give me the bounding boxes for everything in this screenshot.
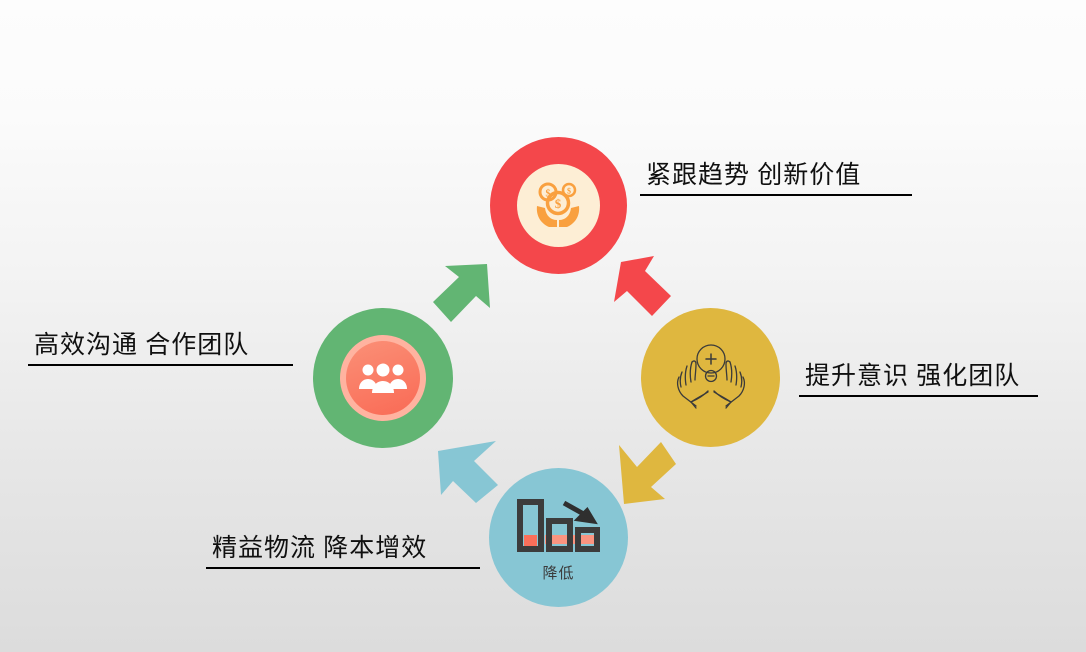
node-logistics-caption: 降低 [542,562,574,583]
node-communication[interactable] [313,308,453,448]
label-innovation-underline [640,194,912,196]
label-communication-text: 高效沟通 合作团队 [28,325,293,364]
label-awareness-text: 提升意识 强化团队 [799,356,1038,395]
arrow-red-down-right [607,252,679,329]
slide-canvas: $ $ $ [0,0,1086,652]
hands-holding-money-icon: $ $ $ [530,179,588,233]
svg-text:$: $ [567,186,571,195]
arrow-green-up-right [429,258,501,335]
label-logistics-underline [206,567,480,569]
node-logistics[interactable]: 降低 [489,468,628,607]
hands-holding-plus-minus-icon [668,342,754,414]
label-logistics: 精益物流 降本增效 [206,528,480,569]
svg-text:$: $ [554,196,561,211]
node-innovation-inner: $ $ $ [517,164,600,247]
label-awareness-underline [799,395,1038,397]
node-awareness[interactable] [641,308,780,447]
label-innovation-text: 紧跟趋势 创新价值 [640,155,912,194]
label-awareness: 提升意识 强化团队 [799,356,1038,397]
node-innovation[interactable]: $ $ $ [490,137,627,274]
node-communication-inner [346,341,420,415]
group-of-people-icon [358,361,408,395]
label-communication: 高效沟通 合作团队 [28,325,293,366]
arrow-blue-up-left [434,437,506,514]
label-logistics-text: 精益物流 降本增效 [206,528,480,567]
label-communication-underline [28,364,293,366]
label-innovation: 紧跟趋势 创新价值 [640,155,912,196]
node-communication-inner-ring [340,335,426,421]
declining-bar-chart-icon [513,497,605,555]
